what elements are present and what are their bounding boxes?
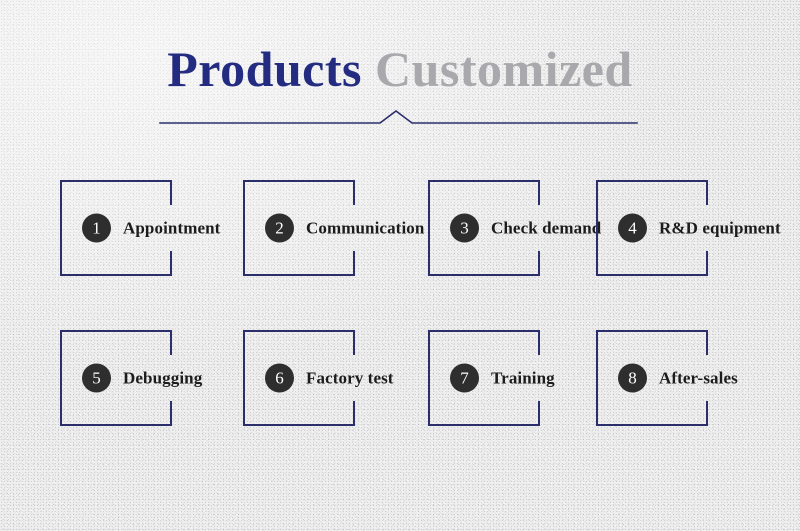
step-content: 5 Debugging bbox=[82, 364, 202, 393]
step-label: Debugging bbox=[123, 368, 202, 388]
step-box-edge-bottom bbox=[596, 424, 708, 426]
step-box-edge-top bbox=[428, 180, 540, 182]
step-box-edge-top bbox=[428, 330, 540, 332]
divider-peak-icon bbox=[0, 104, 800, 134]
step-box-edge-left bbox=[596, 180, 598, 276]
page-title-secondary: Customized bbox=[375, 41, 633, 97]
step-box-edge-right-top bbox=[353, 330, 355, 355]
step-number-badge: 2 bbox=[265, 214, 294, 243]
page-canvas: Products Customized 1 Appointment bbox=[0, 0, 800, 531]
step-box-edge-bottom bbox=[60, 424, 172, 426]
step-box-edge-right-bottom bbox=[170, 251, 172, 276]
step-box-edge-right-bottom bbox=[706, 251, 708, 276]
step-box-edge-bottom bbox=[243, 424, 355, 426]
step-box-edge-left bbox=[60, 330, 62, 426]
process-step-6[interactable]: 6 Factory test bbox=[243, 330, 355, 426]
step-number-badge: 1 bbox=[82, 214, 111, 243]
page-title-primary: Products bbox=[167, 41, 362, 97]
step-content: 1 Appointment bbox=[82, 214, 220, 243]
step-label: Communication bbox=[306, 218, 424, 238]
step-box-edge-top bbox=[596, 180, 708, 182]
step-box-edge-bottom bbox=[428, 274, 540, 276]
step-number-badge: 7 bbox=[450, 364, 479, 393]
process-step-1[interactable]: 1 Appointment bbox=[60, 180, 172, 276]
title-divider bbox=[0, 104, 800, 134]
step-box-edge-right-bottom bbox=[353, 401, 355, 426]
step-number-badge: 8 bbox=[618, 364, 647, 393]
step-number-badge: 6 bbox=[265, 364, 294, 393]
step-box-edge-top bbox=[243, 180, 355, 182]
step-box-edge-top bbox=[60, 330, 172, 332]
page-title: Products Customized bbox=[0, 40, 800, 98]
step-box-edge-bottom bbox=[60, 274, 172, 276]
step-box-edge-bottom bbox=[243, 274, 355, 276]
step-box-edge-left bbox=[243, 330, 245, 426]
step-content: 3 Check demand bbox=[450, 214, 601, 243]
step-content: 7 Training bbox=[450, 364, 555, 393]
step-box-edge-top bbox=[243, 330, 355, 332]
step-label: Appointment bbox=[123, 218, 220, 238]
page-header: Products Customized bbox=[0, 40, 800, 98]
process-steps-row-2: 5 Debugging 6 Factory test bbox=[0, 330, 800, 480]
process-step-5[interactable]: 5 Debugging bbox=[60, 330, 172, 426]
step-box-edge-left bbox=[596, 330, 598, 426]
step-number-badge: 4 bbox=[618, 214, 647, 243]
step-content: 6 Factory test bbox=[265, 364, 394, 393]
step-box-edge-right-bottom bbox=[538, 251, 540, 276]
step-content: 2 Communication bbox=[265, 214, 424, 243]
step-box-edge-left bbox=[428, 330, 430, 426]
process-step-2[interactable]: 2 Communication bbox=[243, 180, 355, 276]
step-box-edge-top bbox=[60, 180, 172, 182]
process-step-3[interactable]: 3 Check demand bbox=[428, 180, 540, 276]
step-box-edge-left bbox=[60, 180, 62, 276]
step-box-edge-right-bottom bbox=[170, 401, 172, 426]
step-number-badge: 3 bbox=[450, 214, 479, 243]
step-box-edge-left bbox=[428, 180, 430, 276]
step-box-edge-right-top bbox=[538, 330, 540, 355]
process-step-8[interactable]: 8 After-sales bbox=[596, 330, 708, 426]
process-step-7[interactable]: 7 Training bbox=[428, 330, 540, 426]
step-box-edge-bottom bbox=[596, 274, 708, 276]
step-label: R&D equipment bbox=[659, 218, 781, 238]
step-box-edge-top bbox=[596, 330, 708, 332]
step-content: 8 After-sales bbox=[618, 364, 738, 393]
process-steps-row-1: 1 Appointment 2 Communication bbox=[0, 180, 800, 330]
step-number-badge: 5 bbox=[82, 364, 111, 393]
step-box-edge-bottom bbox=[428, 424, 540, 426]
step-content: 4 R&D equipment bbox=[618, 214, 781, 243]
step-box-edge-right-top bbox=[706, 180, 708, 205]
step-box-edge-right-top bbox=[170, 330, 172, 355]
step-label: Factory test bbox=[306, 368, 394, 388]
step-box-edge-right-top bbox=[353, 180, 355, 205]
step-label: Check demand bbox=[491, 218, 601, 238]
step-box-edge-right-bottom bbox=[706, 401, 708, 426]
step-box-edge-left bbox=[243, 180, 245, 276]
process-step-4[interactable]: 4 R&D equipment bbox=[596, 180, 708, 276]
step-box-edge-right-top bbox=[706, 330, 708, 355]
step-box-edge-right-top bbox=[538, 180, 540, 205]
process-steps: 1 Appointment 2 Communication bbox=[0, 180, 800, 480]
step-label: After-sales bbox=[659, 368, 738, 388]
step-box-edge-right-bottom bbox=[538, 401, 540, 426]
step-label: Training bbox=[491, 368, 555, 388]
step-box-edge-right-top bbox=[170, 180, 172, 205]
step-box-edge-right-bottom bbox=[353, 251, 355, 276]
